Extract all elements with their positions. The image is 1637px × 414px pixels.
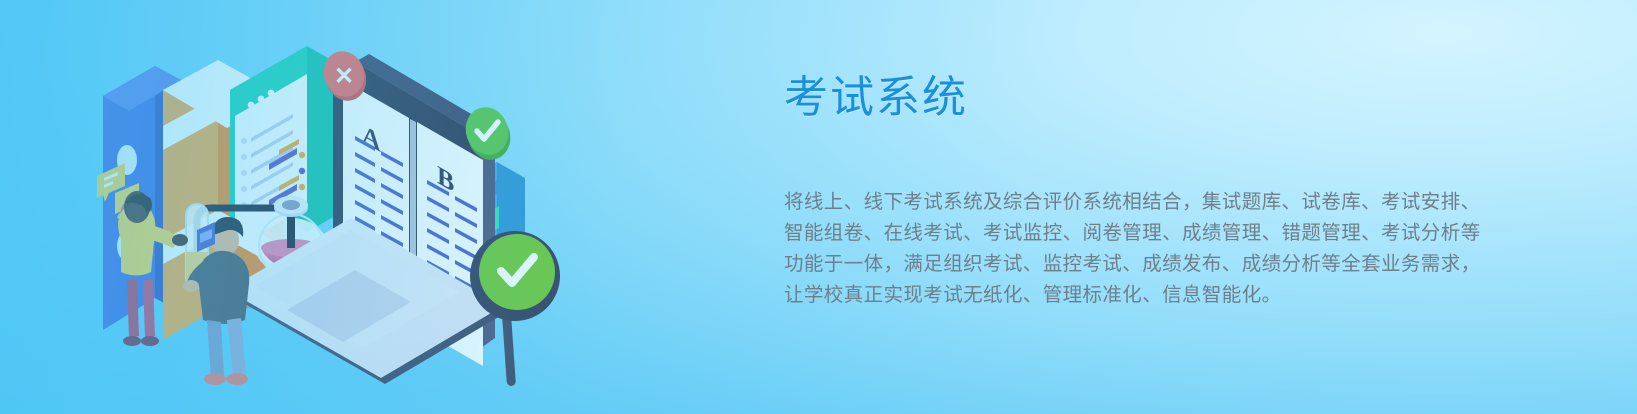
description-line: 智能组卷、在线考试、考试监控、阅卷管理、成绩管理、错题管理、考试分析等 [784, 218, 1504, 249]
hero-banner: A B [0, 0, 1637, 414]
banner-copy: 考试系统 将线上、线下考试系统及综合评价系统相结合，集试题库、试卷库、考试安排、… [784, 72, 1504, 311]
svg-text:✕: ✕ [334, 63, 354, 90]
banner-description: 将线上、线下考试系统及综合评价系统相结合，集试题库、试卷库、考试安排、 智能组卷… [784, 187, 1504, 311]
page-title: 考试系统 [784, 72, 1504, 125]
description-line: 功能于一体，满足组织考试、监控考试、成绩发布、成绩分析等全套业务需求， [784, 249, 1504, 280]
description-line: 将线上、线下考试系统及综合评价系统相结合，集试题库、试卷库、考试安排、 [784, 187, 1504, 218]
description-line: 让学校真正实现考试无纸化、管理标准化、信息智能化。 [784, 280, 1504, 311]
exam-system-illustration: A B [55, 8, 615, 408]
